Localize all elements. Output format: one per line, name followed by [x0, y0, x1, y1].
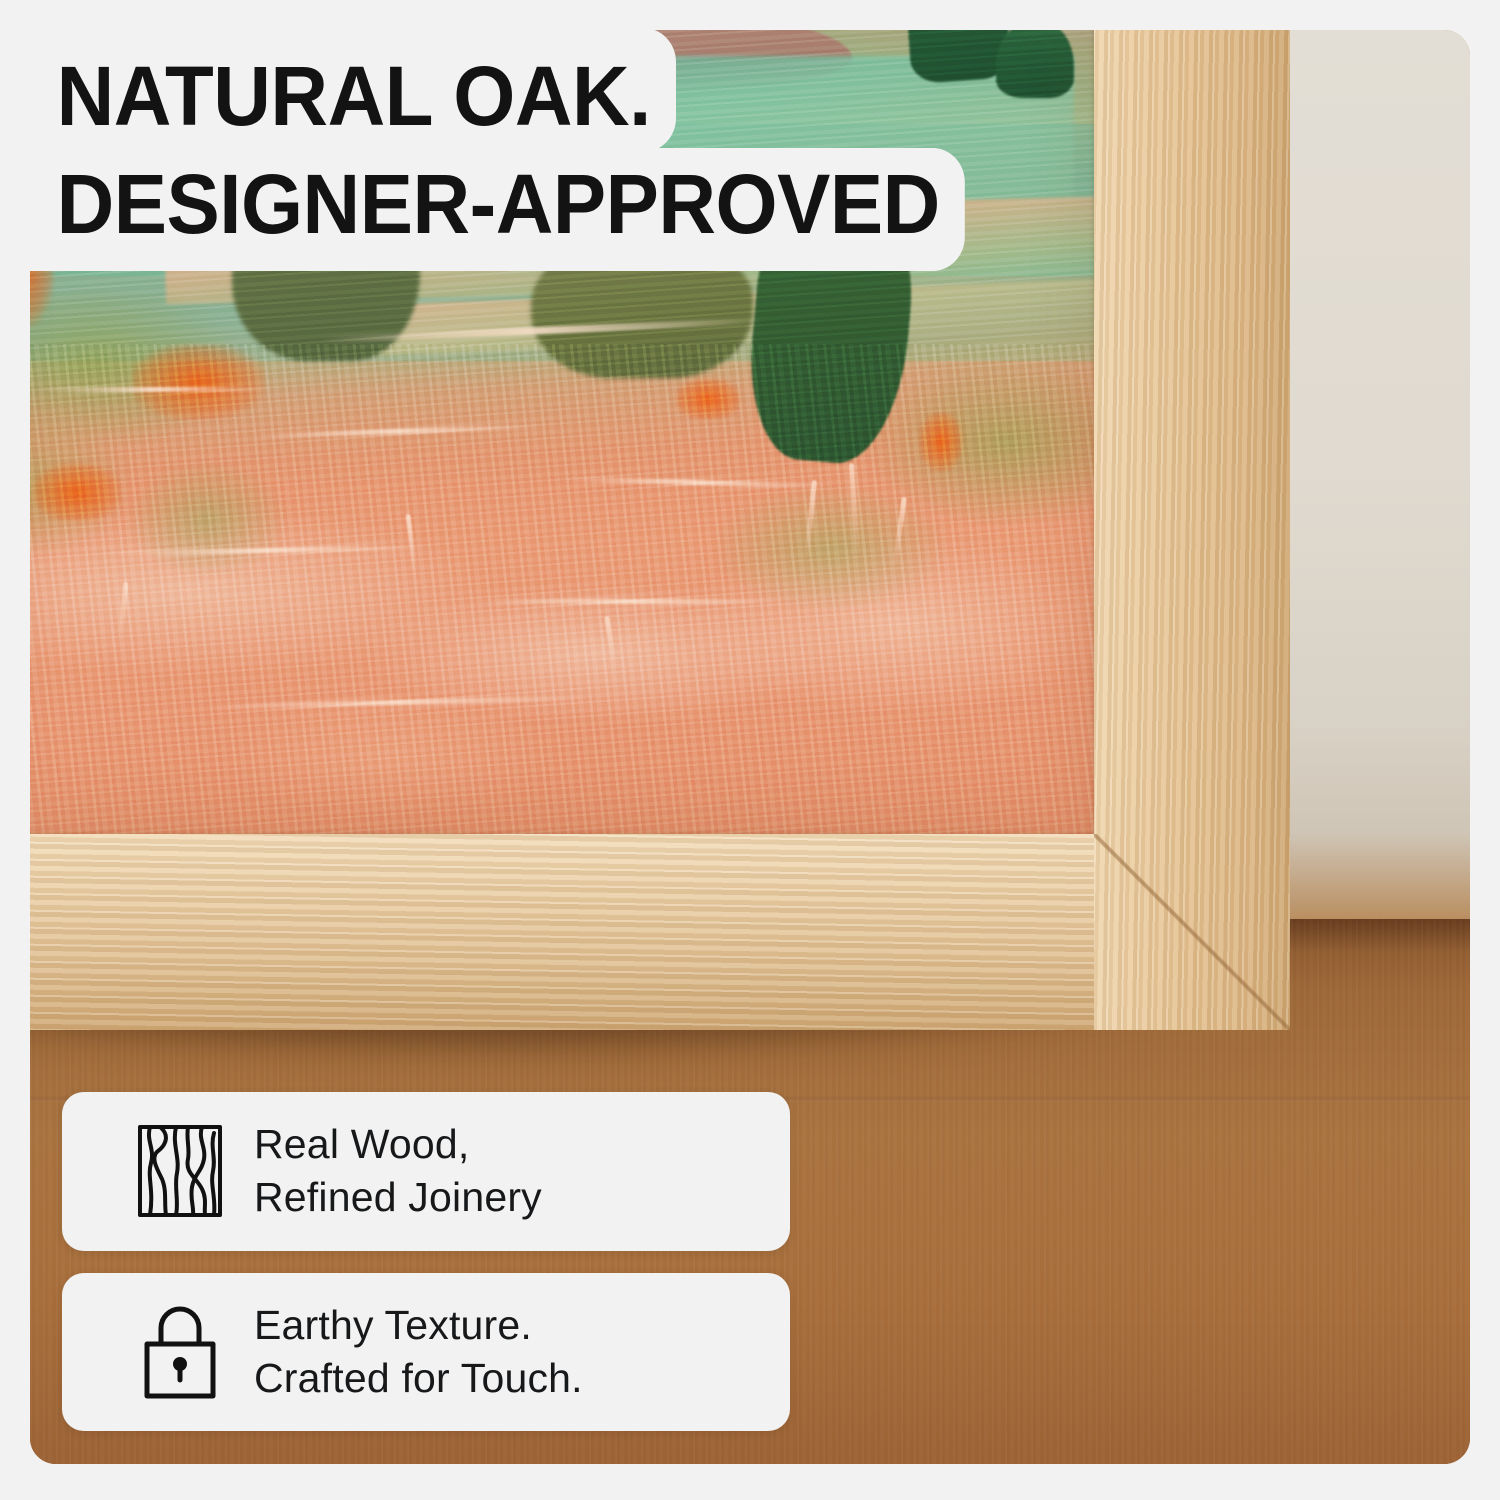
feature-badge-text: Earthy Texture. Crafted for Touch. [254, 1299, 583, 1406]
headline-block: NATURAL OAK. DESIGNER-APPROVED [30, 28, 1060, 271]
feature-badge-text: Real Wood, Refined Joinery [254, 1118, 542, 1225]
product-image-canvas: NATURAL OAK. DESIGNER-APPROVED Real Woo [0, 0, 1500, 1500]
headline-row-1: NATURAL OAK. [30, 28, 1060, 152]
wood-grain-icon [132, 1119, 228, 1223]
padlock-icon [132, 1300, 228, 1404]
feature-line-2: Refined Joinery [254, 1171, 542, 1224]
headline-row-2: DESIGNER-APPROVED [30, 152, 1060, 272]
feature-badge-list: Real Wood, Refined Joinery Earthy Textur… [62, 1092, 790, 1431]
headline-line-1: NATURAL OAK. [30, 28, 676, 152]
feature-badge-earthy-texture: Earthy Texture. Crafted for Touch. [62, 1273, 790, 1432]
feature-line-2: Crafted for Touch. [254, 1352, 583, 1405]
feature-badge-real-wood: Real Wood, Refined Joinery [62, 1092, 790, 1251]
frame-miter-joint [1094, 834, 1290, 1030]
headline-line-2: DESIGNER-APPROVED [30, 148, 964, 272]
feature-line-1: Earthy Texture. [254, 1302, 532, 1348]
feature-line-1: Real Wood, [254, 1121, 469, 1167]
